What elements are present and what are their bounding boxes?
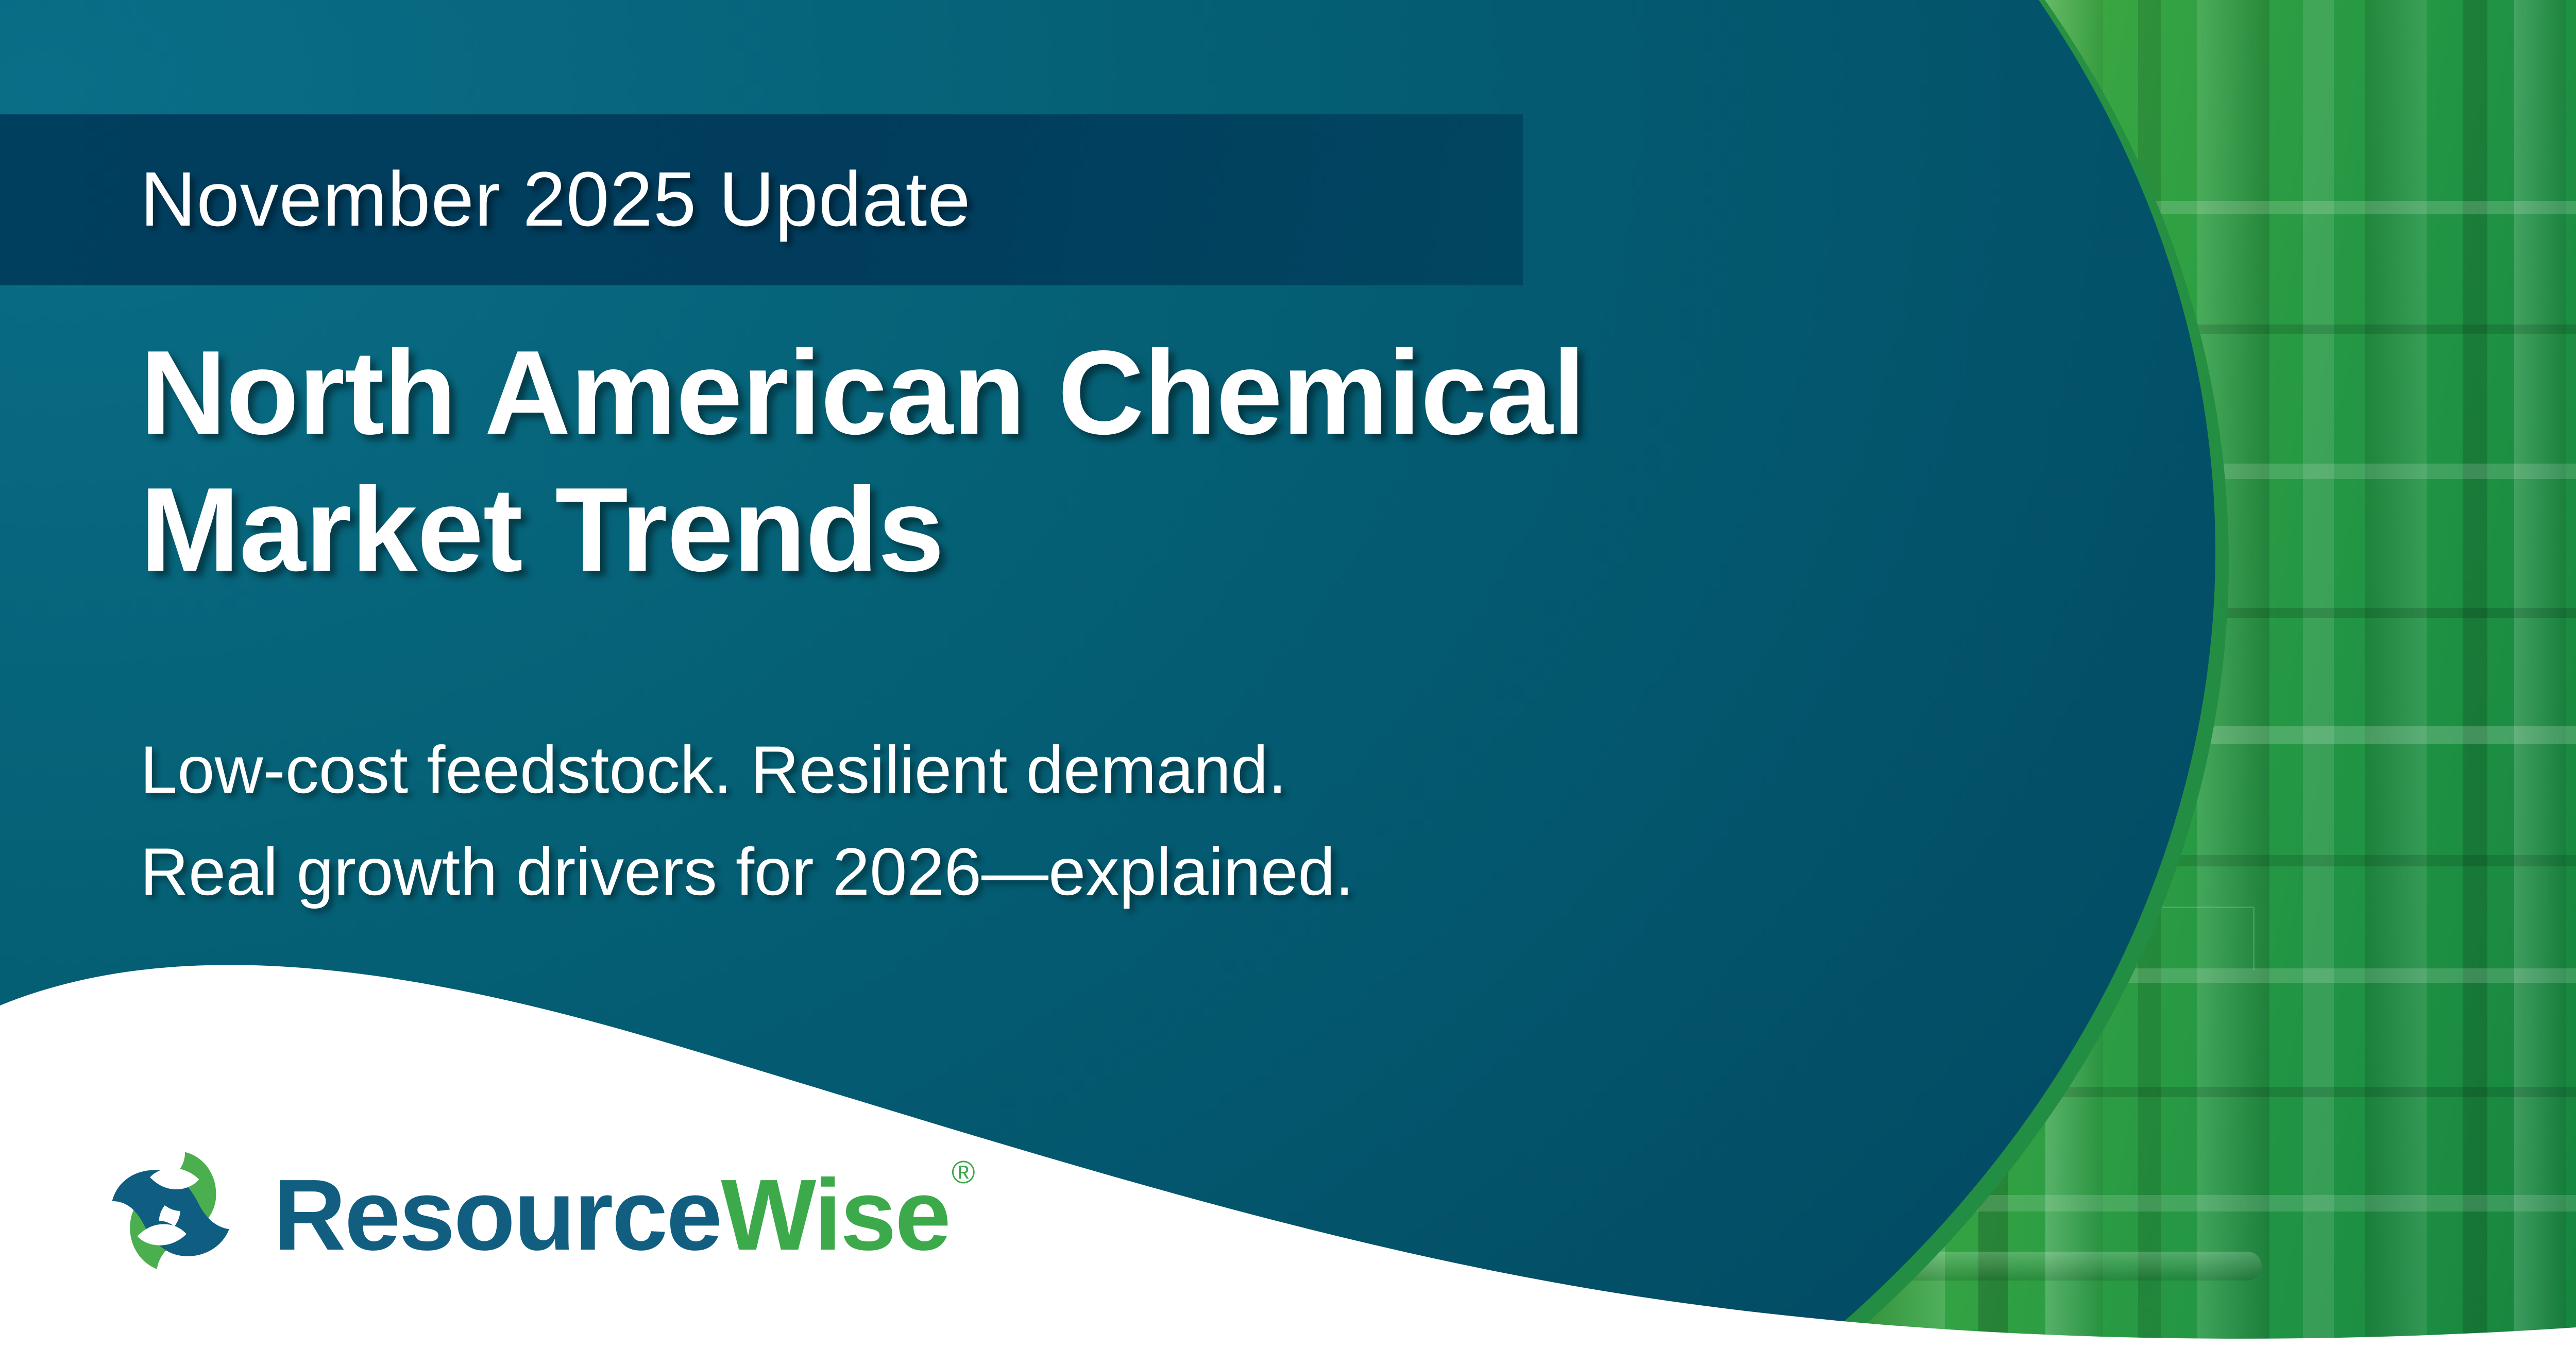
subtitle: Low-cost feedstock. Resilient demand. Re… bbox=[140, 719, 2046, 923]
interlocking-loop-mark bbox=[103, 1143, 243, 1283]
logo-word-resource: Resource bbox=[273, 1158, 721, 1271]
page-title: North American Chemical Market Trends bbox=[140, 325, 2046, 599]
marketing-banner: November 2025 Update North American Chem… bbox=[0, 0, 2576, 1348]
subtitle-line-1: Low-cost feedstock. Resilient demand. bbox=[140, 719, 2046, 821]
registered-trademark-icon: ® bbox=[952, 1155, 975, 1190]
eyebrow-label: November 2025 Update bbox=[140, 122, 1480, 276]
headline-line-2: Market Trends bbox=[140, 462, 2046, 599]
logo-word-wise: Wise bbox=[721, 1158, 950, 1271]
logo-wordmark: ResourceWise® bbox=[273, 1165, 973, 1266]
resourcewise-logo[interactable]: ResourceWise® bbox=[103, 1139, 886, 1286]
subtitle-line-2: Real growth drivers for 2026—explained. bbox=[140, 821, 2046, 923]
headline-line-1: North American Chemical bbox=[140, 325, 2046, 462]
